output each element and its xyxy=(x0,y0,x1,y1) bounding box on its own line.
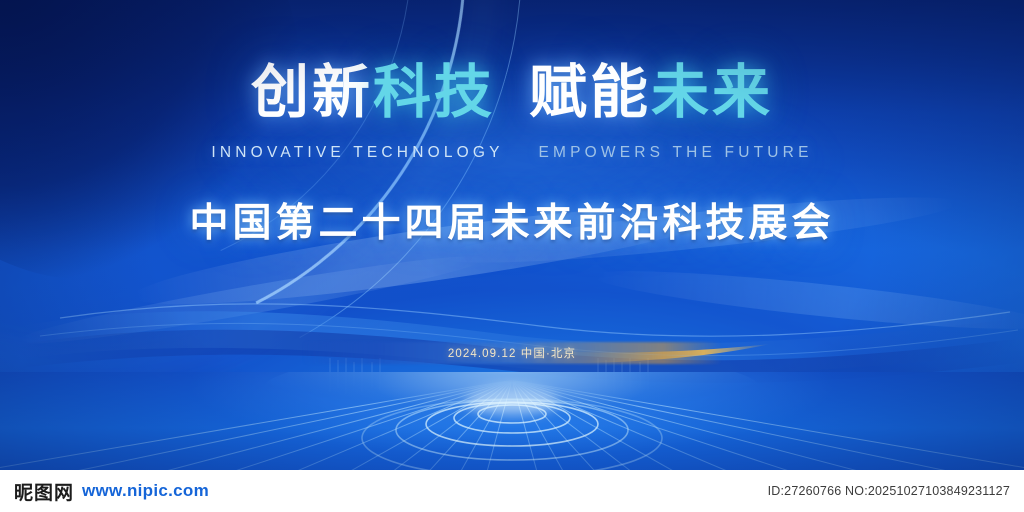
vignette-overlay xyxy=(0,0,1024,512)
brand-block[interactable]: 昵图网 www.nipic.com xyxy=(14,478,209,505)
brand-url-link[interactable]: www.nipic.com xyxy=(82,481,209,501)
footer-bar: 昵图网 www.nipic.com ID:27260766 NO:2025102… xyxy=(0,470,1024,512)
poster-canvas: 创新科技赋能未来 INNOVATIVE TECHNOLOGY EMPOWERS … xyxy=(0,0,1024,512)
brand-logo: 昵图网 xyxy=(14,478,74,505)
image-id-text: ID:27260766 NO:20251027103849231127 xyxy=(768,484,1010,498)
